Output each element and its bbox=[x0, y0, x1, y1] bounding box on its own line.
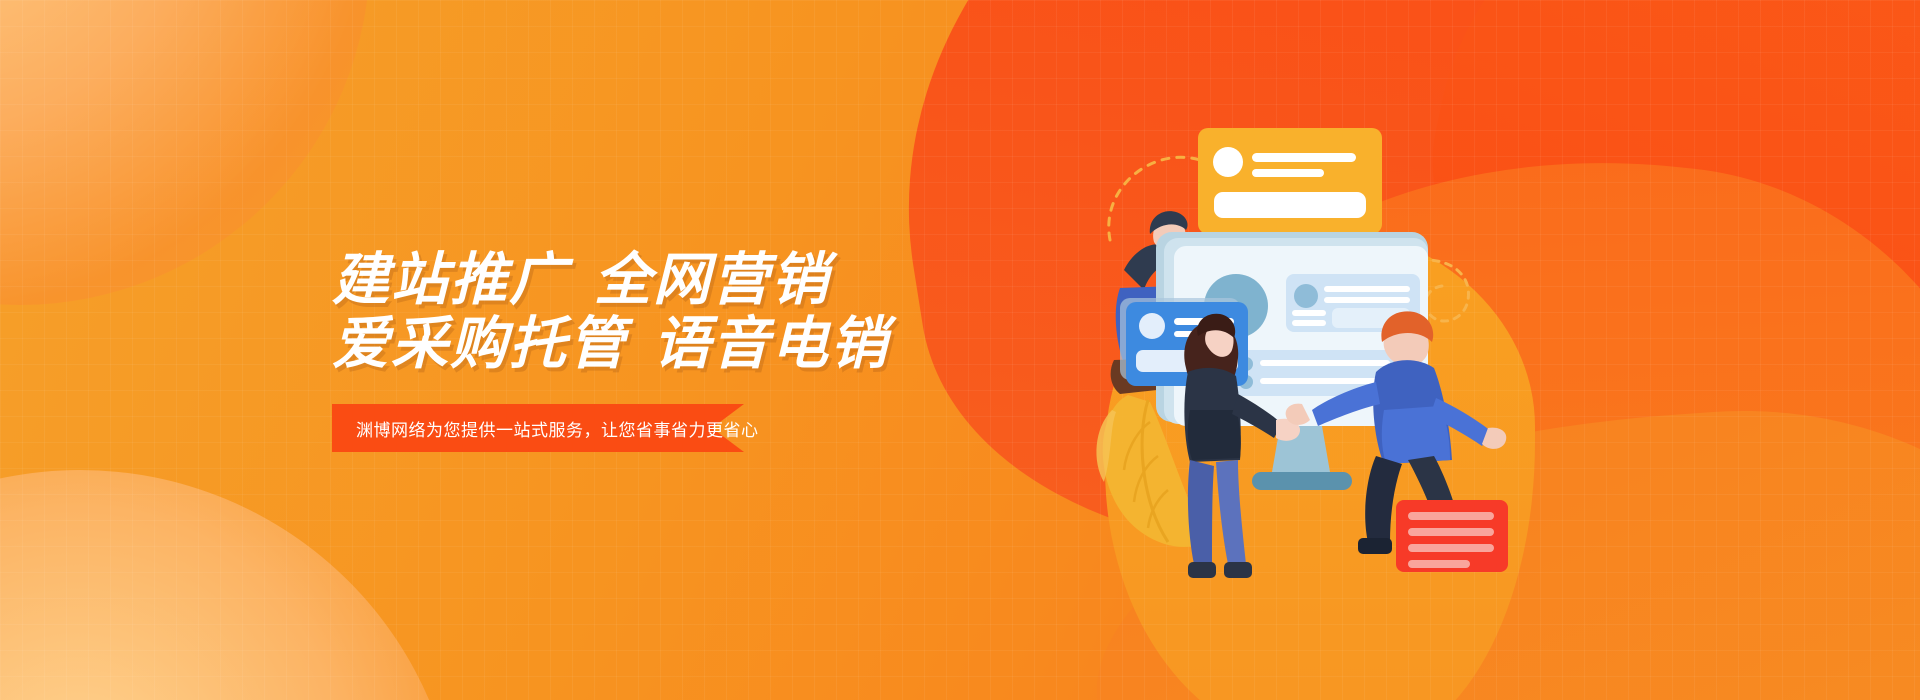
headline-line-1: 建站推广全网营销 bbox=[332, 248, 889, 312]
ribbon-label: 渊博网络为您提供一站式服务，让您省事省力更省心 bbox=[356, 404, 759, 452]
headline-line-2-part-1: 爱采购托管 bbox=[332, 312, 627, 376]
yellow-info-card bbox=[1198, 128, 1382, 234]
background-gradient bbox=[0, 0, 1920, 700]
headline-line-2: 爱采购托管语音电销 bbox=[332, 312, 889, 376]
promo-banner: 建站推广全网营销 爱采购托管语音电销 渊博网络为您提供一站式服务，让您省事省力更… bbox=[0, 0, 1920, 700]
red-list-card bbox=[1396, 500, 1508, 572]
hero-illustration bbox=[1090, 110, 1510, 600]
tagline-ribbon: 渊博网络为您提供一站式服务，让您省事省力更省心 bbox=[332, 404, 744, 452]
headline-line-1-part-2: 全网营销 bbox=[594, 248, 830, 312]
hero-copy: 建站推广全网营销 爱采购托管语音电销 渊博网络为您提供一站式服务，让您省事省力更… bbox=[332, 248, 889, 452]
headline-line-2-part-2: 语音电销 bbox=[653, 312, 889, 376]
headline-line-1-part-1: 建站推广 bbox=[332, 248, 568, 312]
